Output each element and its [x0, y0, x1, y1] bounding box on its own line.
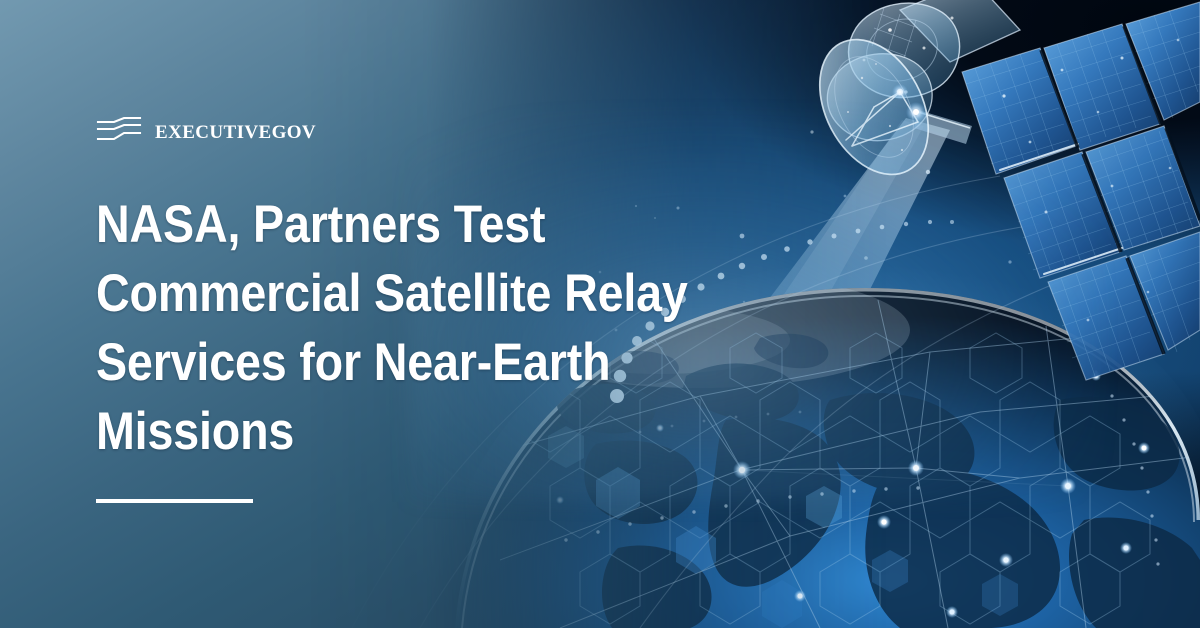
headline-line-4: Missions — [96, 397, 659, 466]
content-column: ExecutiveGov NASA, Partners Test Commerc… — [96, 0, 656, 628]
title-divider — [96, 499, 253, 503]
headline-line-3: Services for Near-Earth — [96, 328, 659, 397]
stacked-wave-lines-icon — [96, 116, 142, 142]
article-share-card: ExecutiveGov NASA, Partners Test Commerc… — [0, 0, 1200, 628]
brand-name: ExecutiveGov — [155, 116, 316, 143]
brand-lockup[interactable]: ExecutiveGov — [96, 112, 656, 146]
headline-line-2: Commercial Satellite Relay — [96, 259, 659, 328]
page-title: NASA, Partners Test Commercial Satellite… — [96, 190, 659, 466]
headline-line-1: NASA, Partners Test — [96, 190, 659, 259]
